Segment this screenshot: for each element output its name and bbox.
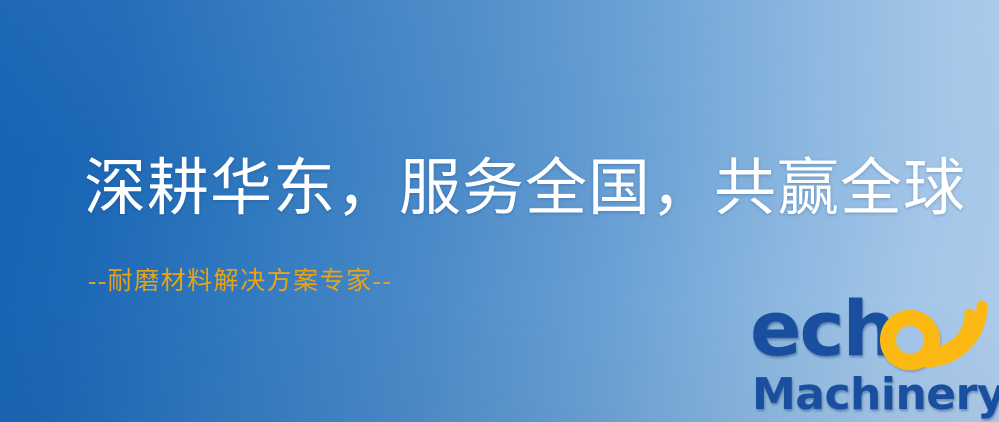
logo-echo-text: ech xyxy=(750,290,895,368)
banner-subtitle: --耐磨材料解决方案专家-- xyxy=(88,266,392,298)
promotional-banner: 深耕华东，服务全国，共赢全球 --耐磨材料解决方案专家-- ech M xyxy=(0,0,999,422)
logo-company-name: Machinery® xyxy=(752,362,999,421)
logo-company-name-text: Machinery xyxy=(752,369,999,420)
banner-headline: 深耕华东，服务全国，共赢全球 xyxy=(84,152,966,226)
company-logo[interactable]: ech Machinery® xyxy=(748,296,996,422)
signal-arcs-icon xyxy=(924,292,999,368)
